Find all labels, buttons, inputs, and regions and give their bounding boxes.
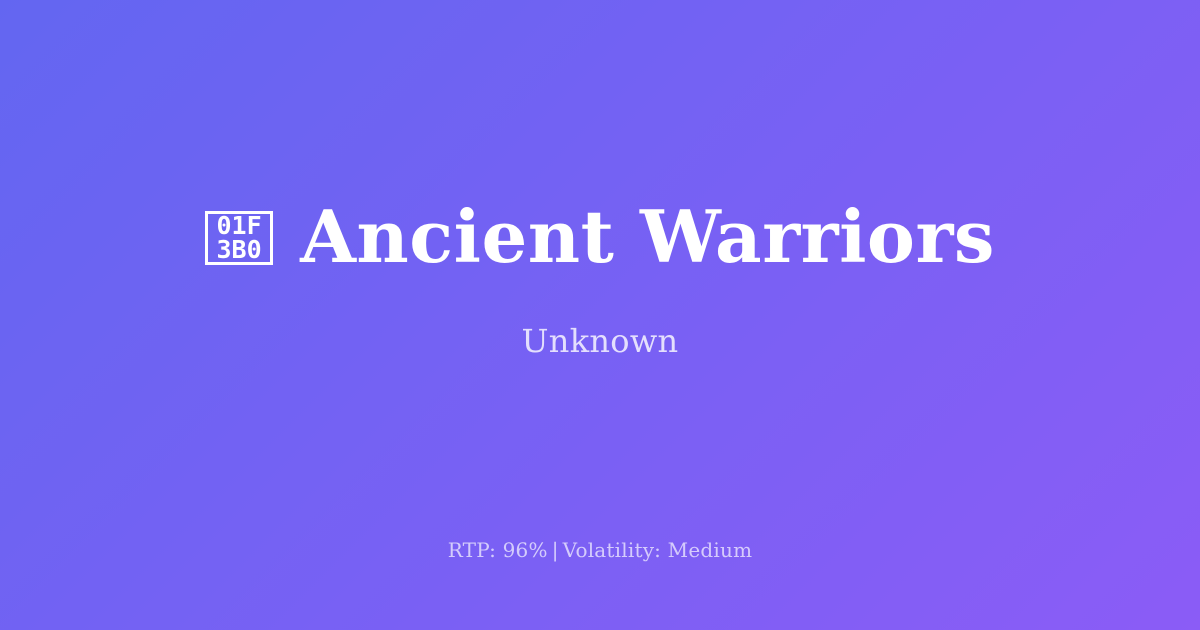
game-banner: { "theme": { "gradient_from": "#6366f1",… [0,0,1200,630]
page-title: Ancient Warriors [300,201,995,273]
title-row: 01F 3B0 Ancient Warriors [205,201,995,273]
provider-label: Unknown [522,325,679,357]
volatility-value: Volatility: Medium [563,538,753,562]
hero-block: 01F 3B0 Ancient Warriors Unknown [0,201,1200,357]
rtp-value: RTP: 96% [448,538,548,562]
game-meta: RTP: 96%|Volatility: Medium [0,540,1200,560]
slot-machine-icon: 01F 3B0 [205,211,273,265]
codepoint-lower: 3B0 [216,238,261,262]
meta-separator: | [548,538,563,562]
